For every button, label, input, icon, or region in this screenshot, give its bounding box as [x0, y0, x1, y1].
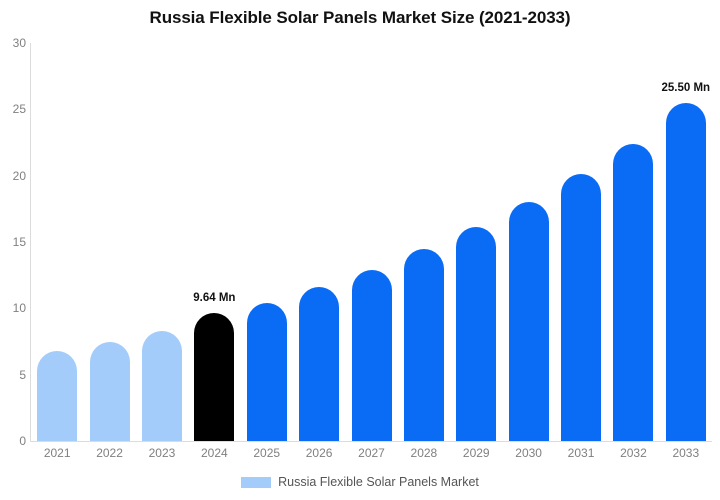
- y-axis-tick: 15: [2, 236, 26, 248]
- y-axis-tick: 25: [2, 103, 26, 115]
- x-axis-tick: 2033: [672, 446, 699, 460]
- x-axis-line: [30, 441, 712, 442]
- bar[interactable]: [299, 287, 339, 441]
- bar[interactable]: [613, 144, 653, 441]
- y-axis-tick: 20: [2, 170, 26, 182]
- x-axis-tick: 2032: [620, 446, 647, 460]
- bar[interactable]: [247, 303, 287, 441]
- x-axis-tick-labels: 2021202220232024202520262027202820292030…: [31, 446, 712, 466]
- x-axis-tick: 2027: [358, 446, 385, 460]
- bar[interactable]: [509, 202, 549, 441]
- x-axis-tick: 2029: [463, 446, 490, 460]
- x-axis-tick: 2025: [253, 446, 280, 460]
- x-axis-tick: 2028: [411, 446, 438, 460]
- bar[interactable]: [561, 174, 601, 441]
- bar[interactable]: [194, 313, 234, 441]
- y-axis-tick: 10: [2, 302, 26, 314]
- y-axis-tick: 30: [2, 37, 26, 49]
- y-axis-tick: 5: [2, 369, 26, 381]
- legend-swatch-icon: [241, 477, 271, 488]
- bar[interactable]: [352, 270, 392, 441]
- x-axis-tick: 2021: [44, 446, 71, 460]
- y-axis-tick: 0: [2, 435, 26, 447]
- x-axis-tick: 2023: [149, 446, 176, 460]
- bar[interactable]: [142, 331, 182, 441]
- bar[interactable]: [37, 351, 77, 441]
- bar-value-label: 25.50 Mn: [662, 82, 711, 94]
- bar-value-label: 9.64 Mn: [193, 292, 235, 304]
- bar[interactable]: [90, 342, 130, 442]
- y-axis-tick-labels: 051015202530: [0, 0, 26, 500]
- chart-legend: Russia Flexible Solar Panels Market: [0, 475, 720, 489]
- bar[interactable]: [456, 227, 496, 441]
- x-axis-tick: 2024: [201, 446, 228, 460]
- bar[interactable]: [404, 249, 444, 441]
- x-axis-tick: 2031: [568, 446, 595, 460]
- x-axis-tick: 2022: [96, 446, 123, 460]
- bars-layer: 9.64 Mn25.50 Mn: [31, 43, 712, 441]
- x-axis-tick: 2030: [515, 446, 542, 460]
- chart-title: Russia Flexible Solar Panels Market Size…: [0, 8, 720, 28]
- x-axis-tick: 2026: [306, 446, 333, 460]
- bar[interactable]: [666, 103, 706, 441]
- bar-chart: Russia Flexible Solar Panels Market Size…: [0, 0, 720, 500]
- legend-label: Russia Flexible Solar Panels Market: [278, 475, 479, 489]
